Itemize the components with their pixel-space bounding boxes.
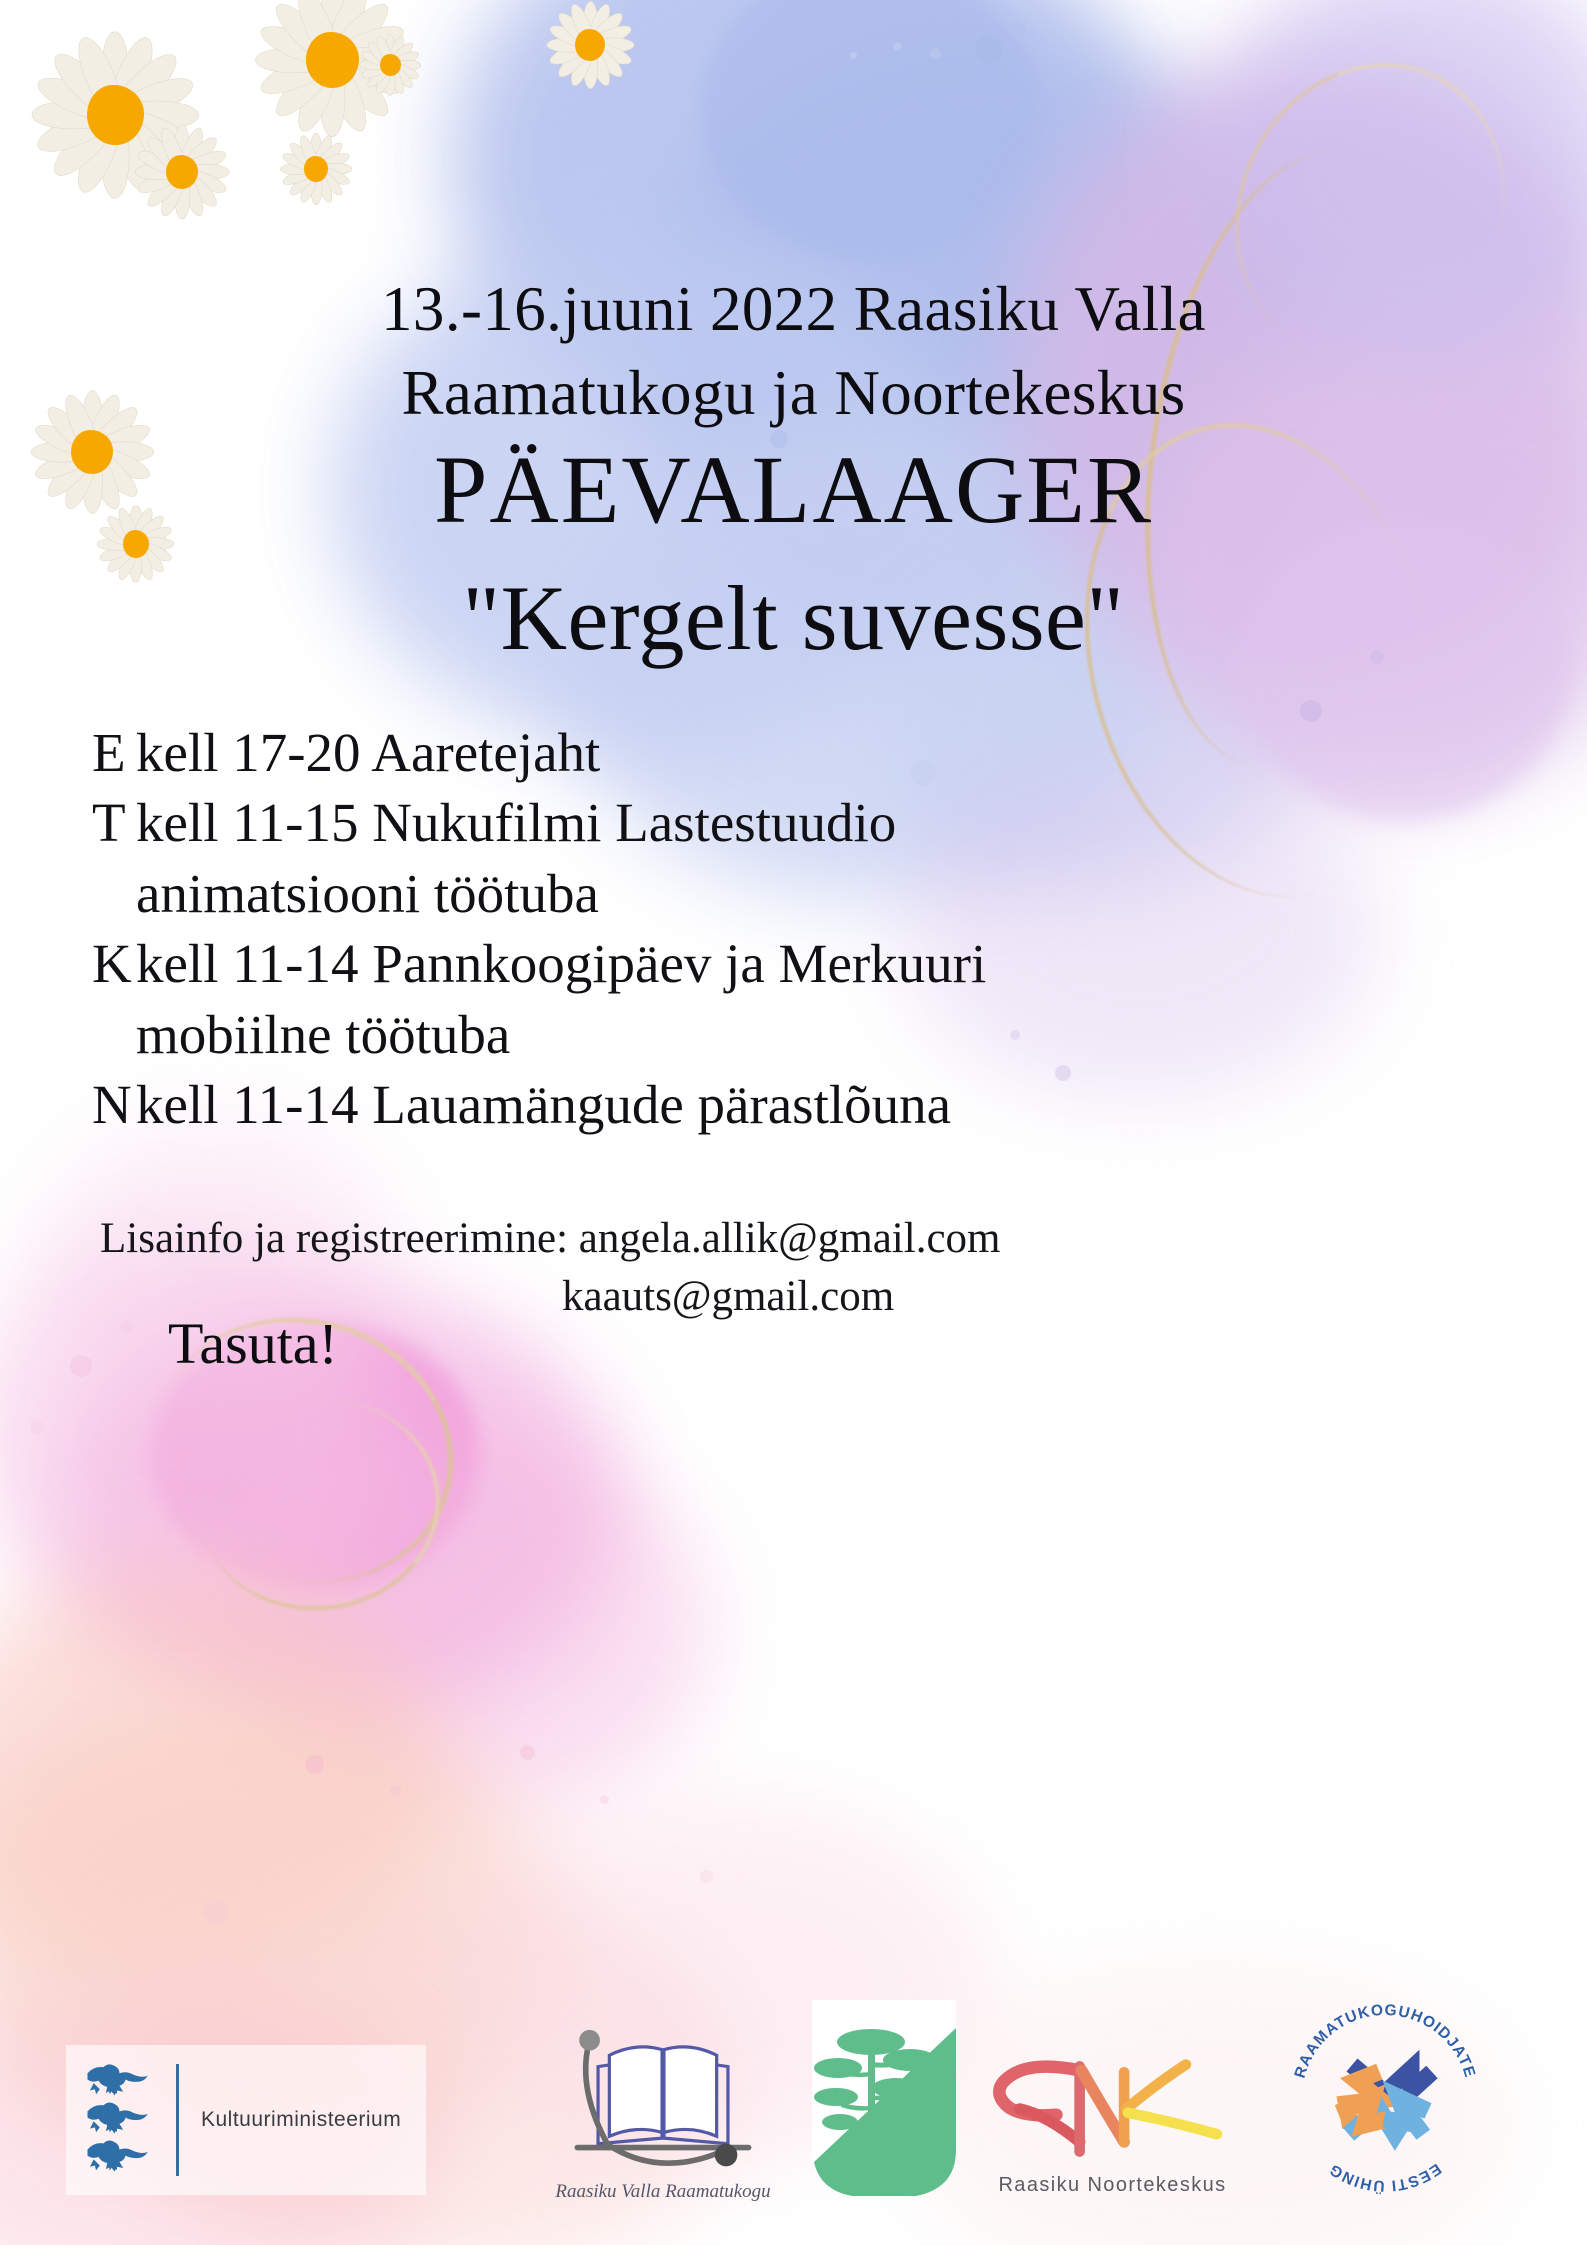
association-bottom-text: EESTI ÜHING — [1326, 2160, 1444, 2194]
daisy-petal — [143, 133, 188, 178]
daisy-petal — [365, 40, 394, 69]
daisy-petal — [566, 1, 597, 47]
daisy-petal — [546, 21, 592, 52]
daisy-petal — [323, 0, 396, 69]
daisy-petal — [133, 538, 174, 565]
daisy-petal — [388, 60, 420, 81]
daisy-petal — [297, 133, 322, 171]
daisy-petal — [320, 54, 374, 135]
daisy-petal — [320, 0, 374, 65]
daisy-petal — [101, 31, 130, 115]
daisy-petal — [176, 166, 221, 211]
daisy-petal — [390, 60, 421, 71]
logo-raasiku-raamatukogu: Raasiku Valla Raamatukogu — [548, 2012, 778, 2203]
daisy-petal — [327, 47, 408, 101]
daisy-petal — [310, 133, 335, 171]
logo-raasiku-vald — [800, 2000, 975, 2205]
ink-blob-lavender — [1240, 520, 1570, 820]
subheading-line-1: 13.-16.juuni 2022 Raasiku Valla — [0, 268, 1587, 352]
contact-info: Lisainfo ja registreerimine: angela.alli… — [100, 1210, 1460, 1326]
daisy-center — [87, 85, 144, 146]
daisy-flower — [275, 128, 357, 210]
daisy-petal — [587, 38, 633, 69]
daisy-petal — [310, 167, 335, 205]
page-subtitle: "Kergelt suvesse" — [0, 570, 1587, 667]
contact-line-primary: Lisainfo ja registreerimine: angela.alli… — [100, 1210, 1460, 1268]
daisy-petal — [316, 163, 352, 175]
daisy-center — [306, 32, 359, 88]
schedule-row: animatsiooni töötuba — [92, 859, 1212, 929]
daisy-flower — [540, 0, 640, 95]
ink-bubble — [70, 1355, 92, 1377]
daisy-petal — [280, 163, 318, 188]
daisy-center — [575, 29, 605, 61]
daisy-petal — [70, 32, 128, 120]
daisy-petal — [319, 60, 345, 137]
ink-bubble — [1300, 700, 1322, 722]
daisy-petal — [314, 163, 352, 188]
svg-text:RAAMATUKOGUHOIDJATE: RAAMATUKOGUHOIDJATE — [1292, 2002, 1479, 2080]
daisy-petal — [386, 61, 415, 90]
daisy-petal — [70, 110, 128, 198]
daisy-petal — [134, 164, 182, 180]
ink-bubble — [1012, 22, 1026, 36]
partner-logo-strip: Kultuuriministeerium Raasiku Vall — [0, 1989, 1587, 2219]
schedule-row: Tkell 11-15 Nukufilmi Lastestuudio — [92, 788, 1212, 858]
daisy-petal — [256, 18, 337, 72]
poster-canvas: 13.-16.juuni 2022 Raasiku Valla Raamatuk… — [0, 0, 1587, 2245]
daisy-petal — [360, 48, 392, 69]
schedule-row: mobiilne töötuba — [92, 1000, 1212, 1070]
gold-vein — [187, 1384, 454, 1625]
schedule-text: kell 17-20 Aaretejaht — [136, 722, 600, 783]
daisy-petal — [291, 0, 345, 65]
daisy-petal — [312, 139, 346, 173]
daisy-petal — [175, 125, 208, 175]
schedule-day: N — [92, 1070, 136, 1140]
daisy-petal — [587, 21, 633, 52]
schedule-row: Ekell 17-20 Aaretejaht — [92, 718, 1212, 788]
daisy-petal — [388, 48, 420, 69]
daisy-petal — [182, 164, 230, 180]
schedule-text: animatsiooni töötuba — [136, 863, 599, 924]
daisy-petal — [583, 1, 614, 47]
daisy-petal — [110, 102, 198, 160]
ministry-name-label: Kultuuriministeerium — [201, 2108, 401, 2132]
association-top-text: RAAMATUKOGUHOIDJATE — [1292, 2002, 1479, 2080]
daisy-petal — [385, 34, 396, 65]
daisy-petal — [31, 101, 115, 130]
daisy-flower — [128, 118, 236, 226]
daisy-petal — [590, 38, 634, 53]
ink-bubble — [930, 48, 941, 59]
ink-blob-pink — [250, 1440, 710, 1820]
ink-bubble — [30, 1420, 44, 1434]
librarians-association-icon: RAAMATUKOGUHOIDJATE EESTI ÜHING — [1280, 1993, 1490, 2203]
ink-bubble — [520, 1745, 535, 1760]
daisy-petal — [554, 40, 596, 82]
daisy-petal — [291, 54, 345, 135]
daisy-petal — [385, 35, 406, 67]
daisy-petal — [310, 169, 322, 205]
youth-centre-caption: Raasiku Noortekeskus — [985, 2174, 1240, 2197]
daisy-petal — [179, 165, 229, 198]
daisy-petal — [101, 115, 130, 199]
ink-bubble — [668, 218, 683, 233]
daisy-petal — [32, 102, 120, 160]
daisy-petal — [286, 165, 320, 199]
pine-shield-icon — [800, 2000, 968, 2200]
schedule-row: Kkell 11-14 Pannkoogipäev ja Merkuuri — [92, 929, 1212, 999]
subheading-line-2: Raamatukogu ja Noortekeskus — [0, 352, 1587, 436]
daisy-petal — [373, 35, 394, 67]
daisy-petal — [135, 165, 185, 198]
daisy-flower — [245, 0, 420, 147]
ink-bubble — [600, 1795, 609, 1804]
daisy-petal — [156, 125, 189, 175]
schedule-day: K — [92, 929, 136, 999]
daisy-petal — [327, 18, 408, 72]
daisy-petal — [105, 46, 184, 125]
daisy-petal — [102, 110, 160, 198]
daisy-petal — [102, 32, 160, 120]
daisy-petal — [583, 45, 598, 89]
daisy-petal — [269, 0, 342, 69]
daisy-petal — [46, 105, 125, 184]
logo-kultuuriministeerium: Kultuuriministeerium — [66, 2045, 426, 2195]
estonian-coat-of-arms-icon — [80, 2061, 154, 2179]
free-admission-label: Tasuta! — [168, 1310, 338, 1377]
daisy-petal — [360, 60, 392, 81]
ink-bubble — [700, 1870, 713, 1883]
daisy-petal — [333, 46, 410, 72]
daisy-petal — [323, 50, 396, 123]
schedule-text: kell 11-14 Pannkoogipäev ja Merkuuri — [136, 933, 986, 994]
daisy-petal — [135, 146, 185, 179]
daisy-petal — [585, 40, 627, 82]
schedule-row: Nkell 11-14 Lauamängude pärastlõuna — [92, 1070, 1212, 1140]
daisy-center — [304, 156, 329, 182]
open-book-icon — [558, 2012, 768, 2172]
daisy-petal — [566, 42, 597, 88]
daisy-petal — [115, 101, 199, 130]
ink-blob-pink — [60, 1290, 620, 1720]
daisy-petal — [179, 146, 229, 179]
daisy-petal — [546, 38, 590, 53]
ink-bubble — [850, 52, 857, 59]
schedule-text: mobiilne töötuba — [136, 1004, 510, 1065]
logo-raasiku-noortekeskus: Raasiku Noortekeskus — [985, 2051, 1240, 2197]
daisy-petal — [385, 65, 396, 96]
daisy-petal — [359, 60, 390, 71]
daisy-petal — [585, 9, 627, 51]
daisy-petal — [256, 46, 333, 72]
daisy-petal — [280, 150, 318, 175]
schedule-day: T — [92, 788, 136, 858]
library-caption: Raasiku Valla Raamatukogu — [548, 2181, 778, 2203]
daisy-petal — [373, 63, 394, 95]
daisy-petal — [297, 167, 322, 205]
daisy-petal — [319, 0, 345, 60]
daisy-petal — [174, 172, 190, 220]
daisy-petal — [583, 42, 614, 88]
daisy-flower — [355, 30, 425, 100]
daisy-center — [380, 54, 401, 76]
schedule-day: E — [92, 718, 136, 788]
daisy-petal — [314, 150, 352, 175]
svg-text:EESTI ÜHING: EESTI ÜHING — [1326, 2160, 1444, 2194]
logo-divider — [176, 2064, 179, 2176]
ink-bubble — [205, 1900, 229, 1924]
ink-blob-pink — [0, 1560, 440, 1990]
ink-blob-blue — [700, 0, 1040, 260]
daisy-petal — [386, 40, 415, 69]
daisy-petal — [110, 70, 198, 128]
daisy-petal — [143, 166, 188, 211]
daisy-petal — [174, 124, 190, 172]
schedule-text: kell 11-14 Lauamängude pärastlõuna — [136, 1074, 951, 1135]
daisy-petal — [554, 9, 596, 51]
daisy-petal — [156, 169, 189, 219]
daisy-petal — [256, 47, 337, 101]
logo-eesti-raamatukoguhoidjate-uhing: RAAMATUKOGUHOIDJATE EESTI ÜHING — [1280, 1993, 1490, 2203]
ink-bubble — [893, 42, 902, 51]
daisy-petal — [312, 165, 346, 199]
ink-bubble — [390, 1785, 401, 1796]
daisy-center — [166, 155, 198, 190]
daisy-petal — [310, 133, 322, 169]
schedule-text: kell 11-15 Nukufilmi Lastestuudio — [136, 792, 896, 853]
daisy-petal — [32, 70, 120, 128]
ink-bubble — [305, 1755, 324, 1774]
schedule-list: Ekell 17-20 Aaretejaht Tkell 11-15 Nukuf… — [92, 718, 1212, 1140]
daisy-petal — [583, 1, 598, 45]
daisy-petal — [176, 133, 221, 178]
ink-bubble — [975, 35, 1003, 63]
daisy-flower — [20, 20, 210, 210]
daisy-petal — [105, 105, 184, 184]
page-title: PÄEVALAAGER — [0, 440, 1587, 541]
daisy-petal — [365, 61, 394, 90]
daisy-petal — [269, 50, 342, 123]
daisy-petal — [280, 163, 316, 175]
daisy-petal — [286, 139, 320, 173]
daisy-petal — [546, 38, 592, 69]
daisy-petal — [385, 63, 406, 95]
event-subheading: 13.-16.juuni 2022 Raasiku Valla Raamatuk… — [0, 268, 1587, 436]
daisy-petal — [98, 538, 139, 565]
daisy-petal — [175, 169, 208, 219]
rnk-mark-icon — [985, 2051, 1240, 2167]
daisy-petal — [46, 46, 125, 125]
